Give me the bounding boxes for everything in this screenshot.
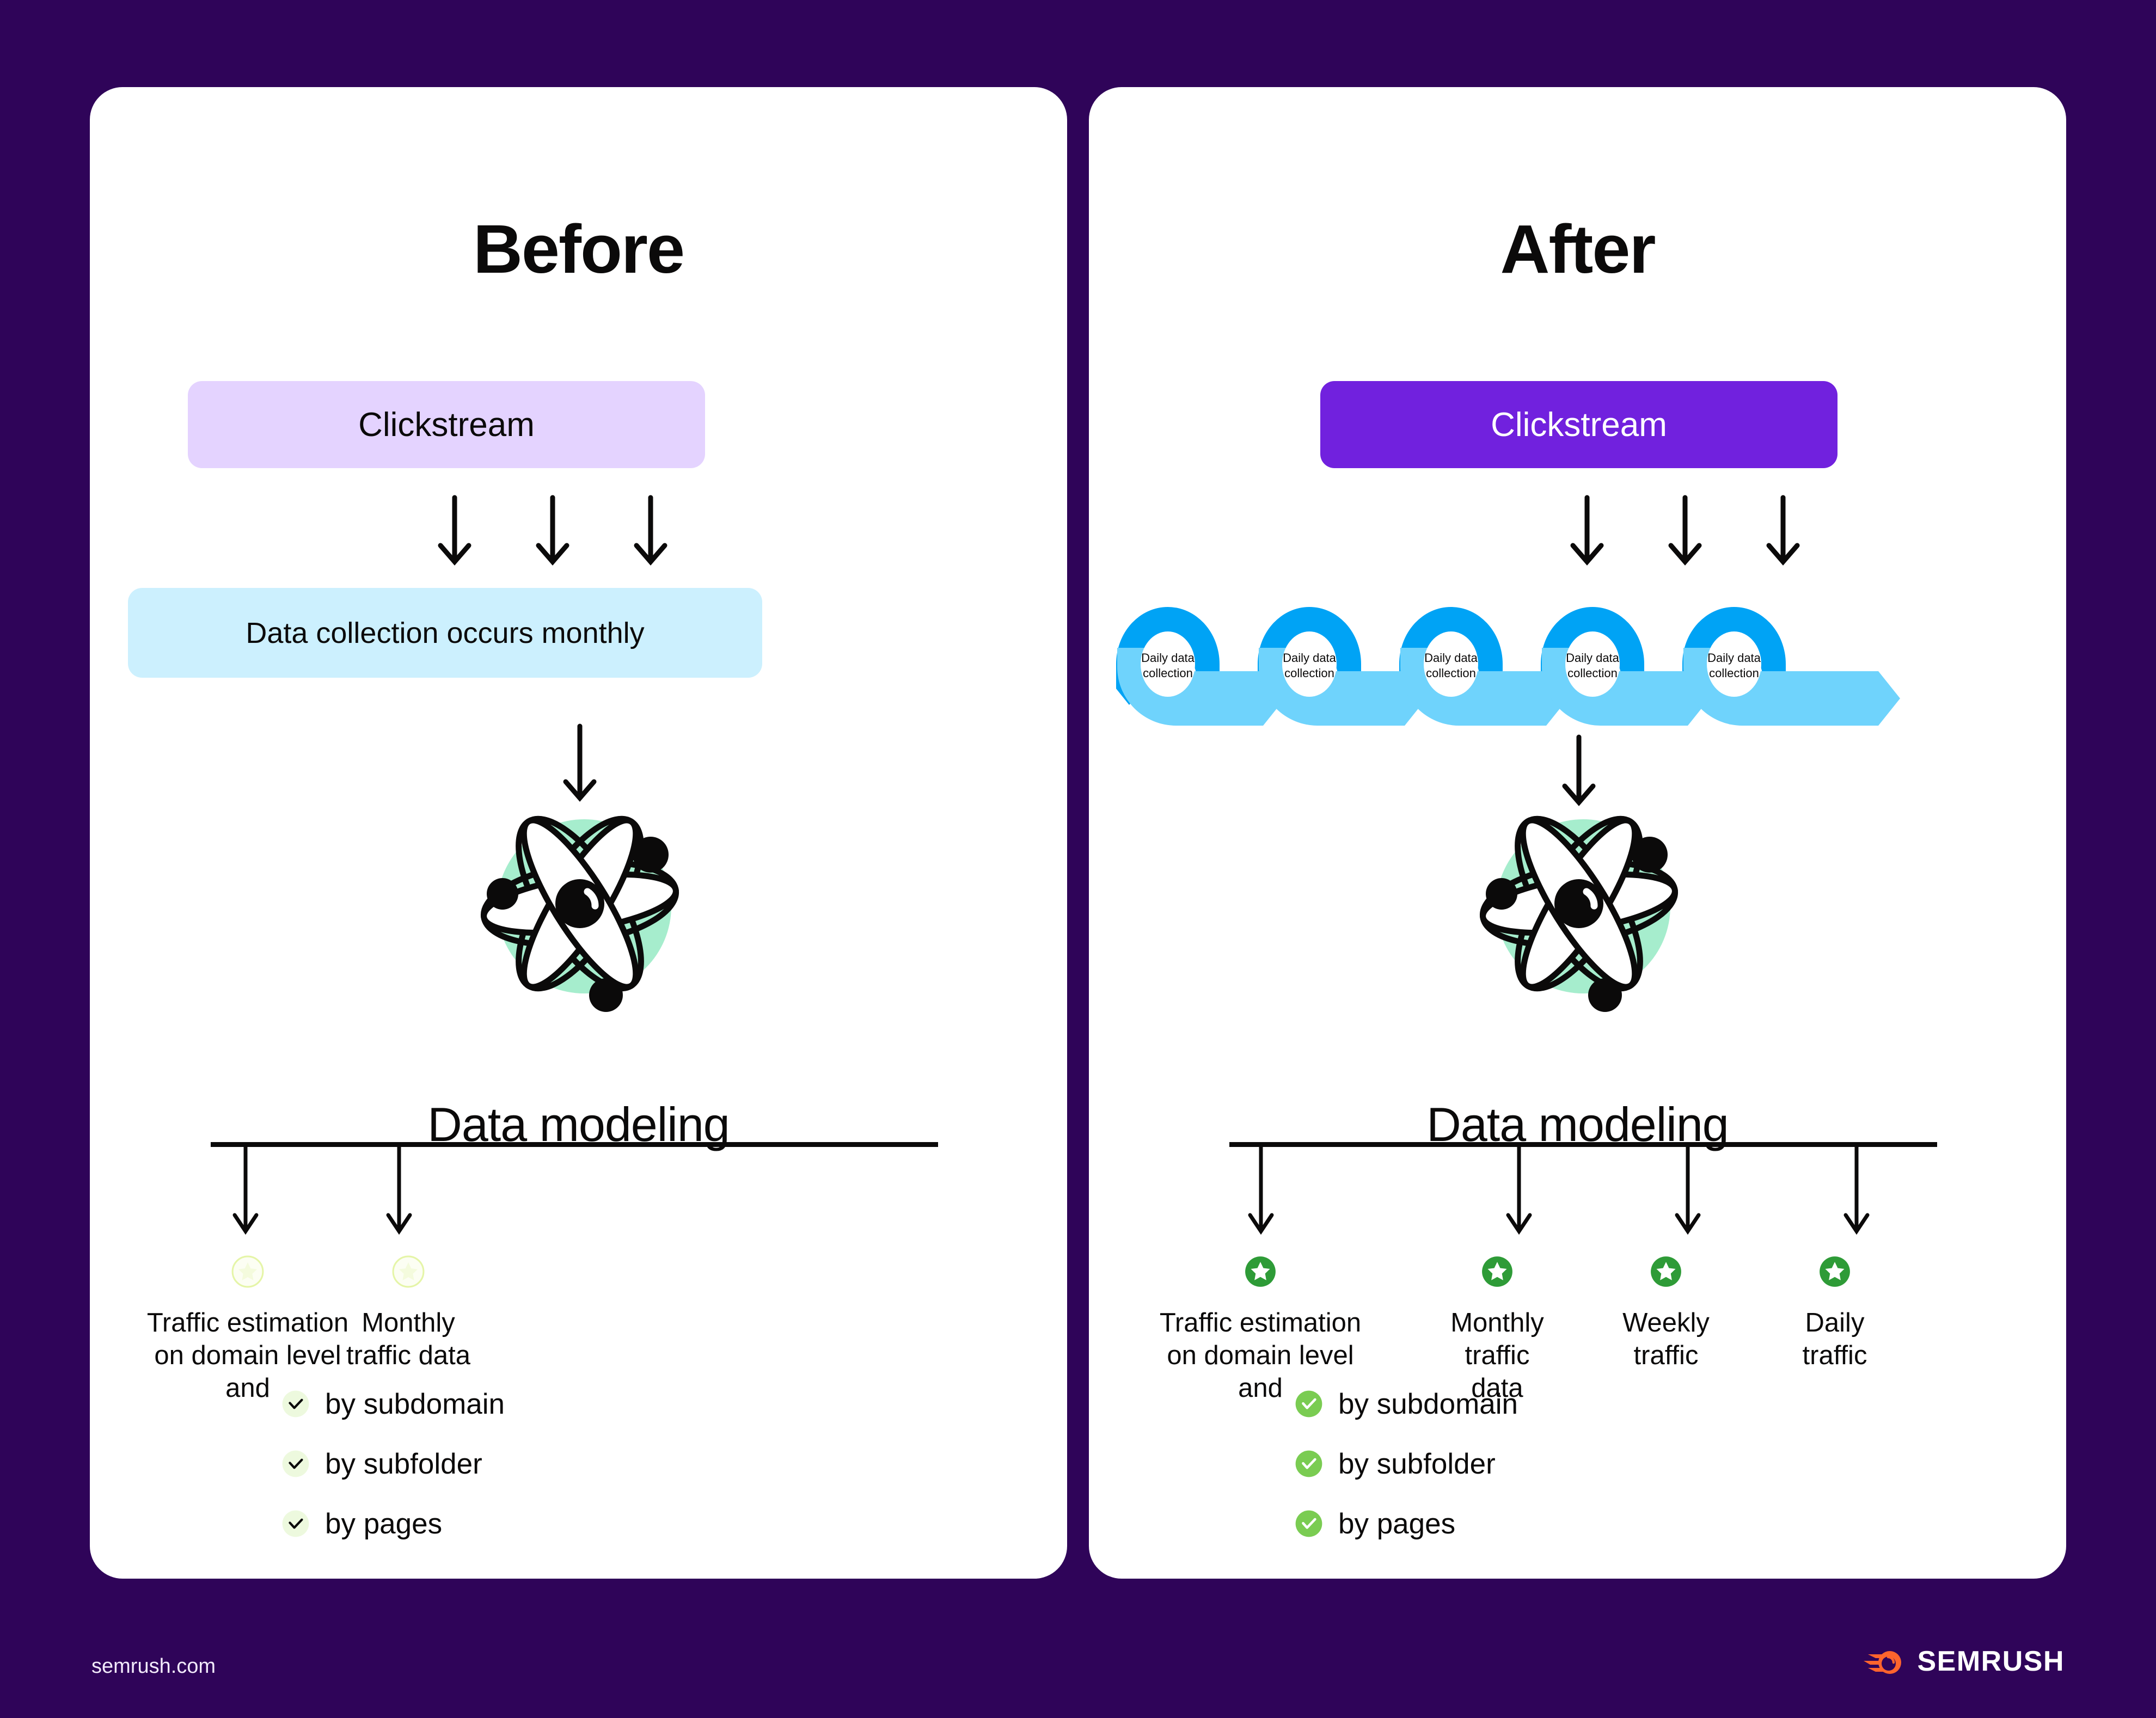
checklist-after: by subdomain by subfolder by pages [1295, 1383, 1518, 1562]
checklist-label: by subfolder [325, 1447, 482, 1481]
page-title-before: Before [90, 210, 1067, 289]
arrow-group-outputs-after [1258, 1145, 1911, 1243]
clickstream-label-before: Clickstream [358, 406, 535, 444]
loop-label-2-line1: Daily data [1424, 651, 1478, 665]
list-item: by pages [1295, 1502, 1518, 1545]
star-icon-active [1244, 1255, 1277, 1288]
star-icon-active [1649, 1255, 1683, 1288]
check-icon-active [1295, 1390, 1323, 1418]
clickstream-chip-after: Clickstream [1320, 381, 1837, 468]
output-label-before-1: Monthly traffic data [346, 1307, 470, 1372]
loop-label-1-line2: collection [1284, 666, 1334, 680]
checklist-label: by subdomain [1338, 1388, 1518, 1421]
panel-after: After Clickstream [1089, 87, 2066, 1579]
footer-url: semrush.com [91, 1655, 216, 1678]
clickstream-label-after: Clickstream [1491, 406, 1667, 444]
output-column-after-3: Daily traffic [1759, 1255, 1911, 1372]
atom-icon-after [1470, 795, 1688, 1015]
data-collection-label-before: Data collection occurs monthly [246, 616, 644, 650]
loop-label-4-line2: collection [1709, 666, 1759, 680]
star-icon-active [1480, 1255, 1514, 1288]
daily-collection-loop-graphic: Daily data collection Daily data collect… [1100, 555, 2004, 729]
loop-label-4-line1: Daily data [1707, 651, 1761, 665]
star-icon-active [1818, 1255, 1852, 1288]
list-item: by subfolder [281, 1443, 505, 1485]
star-icon-inactive [231, 1255, 265, 1288]
list-item: by subdomain [281, 1383, 505, 1425]
checklist-label: by subdomain [325, 1388, 505, 1421]
panel-before: Before Clickstream Data collection occur… [90, 87, 1067, 1579]
checklist-label: by subfolder [1338, 1447, 1496, 1481]
checklist-before: by subdomain by subfolder by pages [281, 1383, 505, 1562]
checklist-label: by pages [325, 1507, 442, 1541]
check-icon-active [1295, 1450, 1323, 1478]
loop-label-3-line2: collection [1567, 666, 1618, 680]
star-icon-inactive [391, 1255, 425, 1288]
page-title-after: After [1089, 210, 2066, 289]
check-icon-active [1295, 1510, 1323, 1538]
loop-label-0-line1: Daily data [1141, 651, 1195, 665]
atom-icon-before [471, 795, 689, 1015]
semrush-brand: SEMRUSH [1864, 1645, 2065, 1678]
check-icon-inactive [281, 1510, 310, 1538]
checklist-label: by pages [1338, 1507, 1455, 1541]
loop-label-2-line2: collection [1426, 666, 1476, 680]
output-column-before-1: Monthly traffic data [313, 1255, 504, 1372]
list-item: by subfolder [1295, 1443, 1518, 1485]
loop-label-1-line1: Daily data [1283, 651, 1337, 665]
semrush-wordmark: SEMRUSH [1917, 1645, 2065, 1678]
check-icon-inactive [281, 1450, 310, 1478]
output-column-after-0: Traffic estimation on domain level and [1157, 1255, 1364, 1404]
arrow-group-clickstream-before [438, 495, 667, 572]
output-label-after-2: Weekly traffic [1622, 1307, 1710, 1372]
loop-label-0-line2: collection [1143, 666, 1193, 680]
check-icon-inactive [281, 1390, 310, 1418]
semrush-comet-icon [1864, 1647, 1905, 1676]
list-item: by pages [281, 1502, 505, 1545]
output-column-after-2: Weekly traffic [1590, 1255, 1742, 1372]
clickstream-chip-before: Clickstream [188, 381, 705, 468]
output-label-after-3: Daily traffic [1803, 1307, 1867, 1372]
data-collection-chip-before: Data collection occurs monthly [128, 588, 762, 678]
loop-label-3-line1: Daily data [1566, 651, 1620, 665]
output-column-after-1: Monthly traffic data [1421, 1255, 1573, 1404]
arrow-group-outputs-before [242, 1145, 471, 1243]
list-item: by subdomain [1295, 1383, 1518, 1425]
